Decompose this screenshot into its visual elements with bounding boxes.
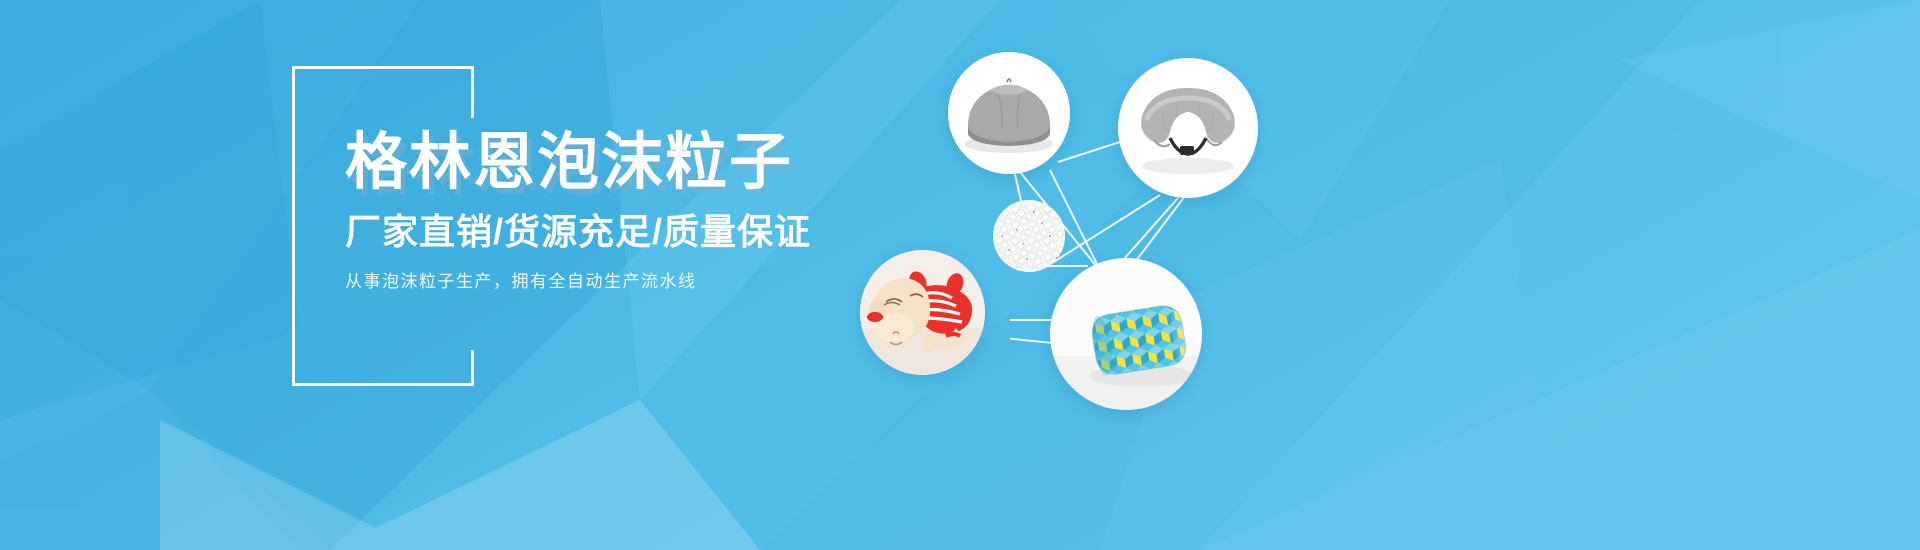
node-monkey-plush[interactable] xyxy=(860,250,985,375)
bolster-pillow-photo xyxy=(1050,258,1202,410)
node-foam-beads[interactable] xyxy=(993,200,1065,272)
promo-banner: 格林恩泡沫粒子 厂家直销/货源充足/质量保证 从事泡沫粒子生产，拥有全自动生产流… xyxy=(0,0,1920,550)
foam-beads-photo xyxy=(993,200,1065,272)
monkey-plush-photo xyxy=(860,250,985,375)
product-network-cluster xyxy=(1010,20,1530,440)
node-neck-pillow[interactable] xyxy=(1118,58,1258,198)
node-bolster-pillow[interactable] xyxy=(1050,258,1202,410)
beanbag-photo xyxy=(948,52,1070,174)
subheadline: 厂家直销/货源充足/质量保证 xyxy=(345,209,1105,254)
node-beanbag-chair[interactable] xyxy=(948,52,1070,174)
tagline: 从事泡沫粒子生产，拥有全自动生产流水线 xyxy=(345,270,1105,294)
neck-pillow-photo xyxy=(1118,58,1258,198)
